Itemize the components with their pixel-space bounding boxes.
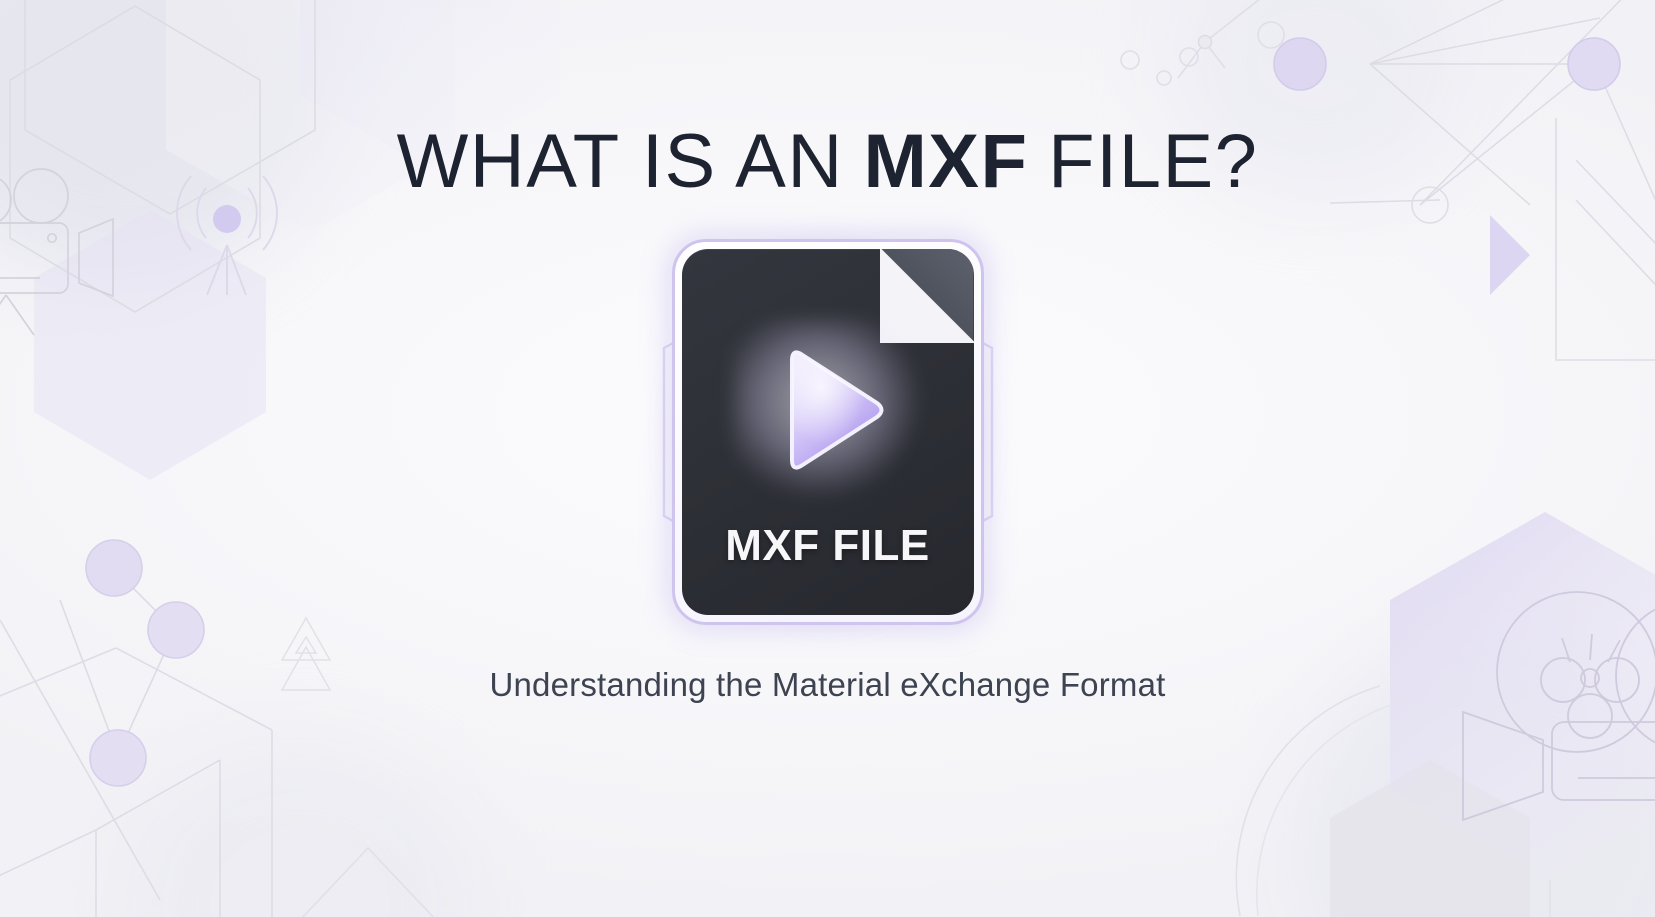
- page-title-part1: WHAT IS AN: [397, 119, 844, 204]
- page-subtitle: Understanding the Material eXchange Form…: [489, 666, 1165, 704]
- file-card: MXF FILE: [682, 249, 974, 615]
- page-title: WHAT IS ANMXFFILE?: [397, 124, 1259, 200]
- play-button-area: [738, 325, 918, 495]
- hero-content: WHAT IS ANMXFFILE?: [0, 0, 1655, 917]
- page-title-part2: FILE?: [1048, 119, 1258, 204]
- play-triangle-icon: [770, 346, 886, 474]
- hero-banner: WHAT IS ANMXFFILE?: [0, 0, 1655, 917]
- mxf-file-icon: MXF FILE: [618, 232, 1038, 632]
- page-title-emphasis: MXF: [863, 119, 1028, 204]
- file-card-label: MXF FILE: [682, 521, 974, 571]
